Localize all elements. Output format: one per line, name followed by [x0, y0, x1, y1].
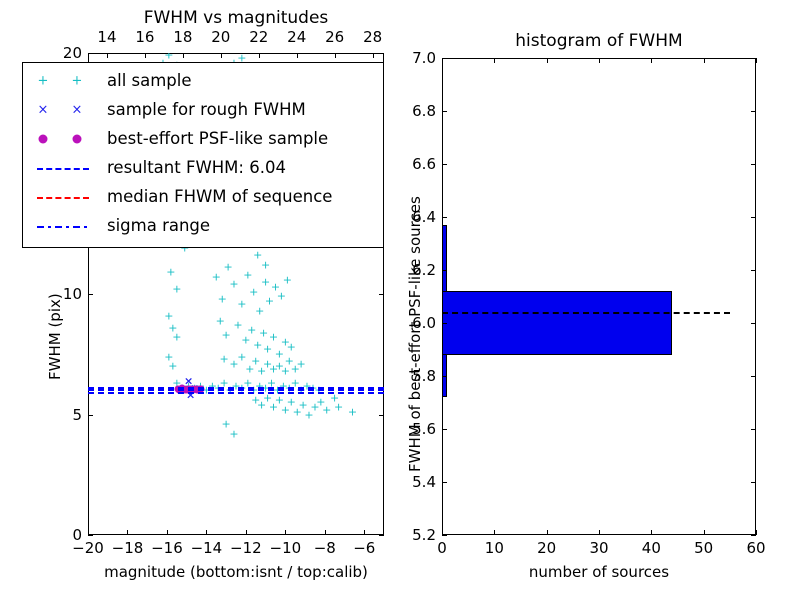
axis-tick: [442, 429, 447, 430]
histogram-bars-layer: [442, 58, 756, 535]
left-y-ticklabel: 0: [42, 526, 82, 544]
scatter-point: +: [322, 404, 331, 415]
scatter-point: +: [259, 327, 268, 338]
legend-entry: ++all sample: [29, 66, 377, 95]
scatter-point: +: [166, 267, 175, 278]
axis-tick: [494, 530, 495, 535]
scatter-point: +: [229, 428, 238, 439]
right-xaxis-label: number of sources: [442, 563, 756, 581]
scatter-point: +: [212, 272, 221, 283]
scatter-point: +: [275, 349, 284, 360]
axis-tick: [127, 530, 128, 535]
axis-tick: [751, 429, 756, 430]
legend-label: all sample: [107, 71, 192, 90]
reference-line: [88, 392, 384, 394]
scatter-point: +: [233, 320, 242, 331]
hist-y-ticklabel: 6.8: [390, 102, 436, 120]
axis-tick: [751, 270, 756, 271]
axis-tick: [651, 530, 652, 535]
scatter-point: +: [237, 351, 246, 362]
scatter-point: +: [220, 354, 229, 365]
right-panel-title: histogram of FWHM: [442, 31, 756, 51]
figure-canvas: FWHM vs magnitudes 1416182022242628 ++++…: [0, 0, 800, 600]
axis-tick: [756, 530, 757, 535]
hist-y-ticklabel: 7.0: [390, 49, 436, 67]
legend-symbol: ××: [29, 95, 107, 124]
axis-tick: [756, 58, 757, 63]
legend-symbol: [29, 124, 107, 153]
scatter-point: +: [243, 269, 252, 280]
axis-tick: [751, 58, 756, 59]
right-yaxis-label: FWHM of best-effort PSF-like sources: [406, 196, 424, 472]
axis-tick: [751, 164, 756, 165]
axis-tick: [335, 53, 336, 58]
top-axis-ticklabel: 28: [349, 28, 397, 46]
axis-tick: [379, 294, 384, 295]
axis-tick: [751, 111, 756, 112]
scatter-point: +: [216, 315, 225, 326]
legend-symbol: [29, 211, 107, 240]
hist-x-ticklabel: 40: [627, 539, 675, 557]
left-y-ticklabel: 20: [42, 44, 82, 62]
legend-symbol: [29, 153, 107, 182]
scatter-point: +: [172, 332, 181, 343]
axis-tick: [547, 530, 548, 535]
axis-tick: [167, 530, 168, 535]
scatter-point: +: [222, 329, 231, 340]
line-icon: [37, 168, 89, 170]
cross-icon: ×: [72, 102, 83, 117]
axis-tick: [494, 58, 495, 63]
left-y-ticklabel: 5: [42, 406, 82, 424]
hist-x-ticklabel: 30: [575, 539, 623, 557]
scatter-point: +: [237, 298, 246, 309]
scatter-point: +: [277, 291, 286, 302]
axis-tick: [221, 53, 222, 58]
axis-tick: [88, 294, 93, 295]
legend-entry: best-effort PSF-like sample: [29, 124, 377, 153]
axis-tick: [183, 53, 184, 58]
scatter-point: +: [168, 361, 177, 372]
axis-tick: [107, 53, 108, 58]
hist-y-ticklabel: 5.2: [390, 526, 436, 544]
axis-tick: [325, 530, 326, 535]
scatter-point: +: [297, 358, 306, 369]
legend-entry: median FHWM of sequence: [29, 182, 377, 211]
axis-tick: [651, 58, 652, 63]
axis-tick: [206, 530, 207, 535]
line-icon: [37, 197, 89, 199]
axis-tick: [442, 164, 447, 165]
axis-tick: [88, 53, 93, 54]
legend-box: ++all sample××sample for rough FWHMbest-…: [22, 62, 384, 248]
scatter-point: +: [330, 392, 339, 403]
scatter-point: +: [348, 407, 357, 418]
axis-tick: [442, 535, 447, 536]
hist-x-ticklabel: 60: [732, 539, 780, 557]
axis-tick: [704, 58, 705, 63]
circle-icon: [39, 134, 48, 143]
scatter-point: +: [247, 325, 256, 336]
axis-tick: [379, 53, 384, 54]
scatter-point: +: [229, 279, 238, 290]
circle-icon: [73, 134, 82, 143]
histogram-bar: [442, 291, 672, 355]
reference-line: [88, 389, 384, 391]
hist-y-ticklabel: 5.4: [390, 473, 436, 491]
left-panel-title: FWHM vs magnitudes: [88, 8, 384, 28]
axis-tick: [442, 323, 447, 324]
hist-x-ticklabel: 50: [680, 539, 728, 557]
legend-label: sample for rough FWHM: [107, 100, 306, 119]
scatter-point: +: [249, 286, 258, 297]
axis-tick: [88, 415, 93, 416]
scatter-point: +: [255, 305, 264, 316]
axis-tick: [547, 58, 548, 63]
axis-tick: [704, 530, 705, 535]
scatter-point: +: [263, 344, 272, 355]
cross-icon: ×: [38, 102, 49, 117]
plus-icon: +: [38, 73, 49, 88]
legend-label: resultant FWHM: 6.04: [107, 158, 286, 177]
scatter-point: +: [218, 293, 227, 304]
left-xaxis-label: magnitude (bottom:isnt / top:calib): [88, 563, 384, 581]
axis-tick: [297, 53, 298, 58]
legend-symbol: ++: [29, 66, 107, 95]
hist-x-ticklabel: 20: [523, 539, 571, 557]
line-icon: [37, 226, 89, 228]
scatter-point: +: [287, 342, 296, 353]
axis-tick: [442, 482, 447, 483]
legend-label: sigma range: [107, 216, 210, 235]
axis-tick: [379, 535, 384, 536]
axis-tick: [442, 217, 447, 218]
axis-tick: [259, 53, 260, 58]
axis-tick: [442, 111, 447, 112]
scatter-point: +: [269, 332, 278, 343]
plus-icon: +: [72, 73, 83, 88]
axis-tick: [285, 530, 286, 535]
hist-y-ticklabel: 6.6: [390, 155, 436, 173]
axis-tick: [751, 535, 756, 536]
axis-tick: [442, 376, 447, 377]
median-reference-line: [442, 312, 730, 314]
scatter-point: +: [253, 339, 262, 350]
axis-tick: [751, 482, 756, 483]
scatter-point: +: [223, 262, 232, 273]
axis-tick: [145, 53, 146, 58]
axis-tick: [246, 530, 247, 535]
hist-x-ticklabel: 10: [470, 539, 518, 557]
axis-tick: [364, 530, 365, 535]
axis-tick: [442, 270, 447, 271]
legend-symbol: [29, 182, 107, 211]
scatter-point: +: [261, 276, 270, 287]
scatter-point: +: [164, 310, 173, 321]
left-yaxis-label: FWHM (pix): [46, 293, 64, 380]
legend-label: best-effort PSF-like sample: [107, 129, 328, 148]
bottom-axis-ticklabel: −6: [340, 539, 388, 557]
scatter-point: +: [261, 260, 270, 271]
axis-tick: [751, 323, 756, 324]
legend-entry: ××sample for rough FWHM: [29, 95, 377, 124]
axis-tick: [442, 58, 447, 59]
legend-entry: sigma range: [29, 211, 377, 240]
axis-tick: [379, 415, 384, 416]
legend-label: median FHWM of sequence: [107, 187, 332, 206]
axis-tick: [88, 535, 93, 536]
axis-tick: [599, 58, 600, 63]
scatter-point: +: [172, 284, 181, 295]
axis-tick: [751, 217, 756, 218]
axis-tick: [751, 376, 756, 377]
legend-entry: resultant FWHM: 6.04: [29, 153, 377, 182]
scatter-point: +: [283, 274, 292, 285]
axis-tick: [373, 53, 374, 58]
axis-tick: [599, 530, 600, 535]
scatter-point: +: [265, 296, 274, 307]
